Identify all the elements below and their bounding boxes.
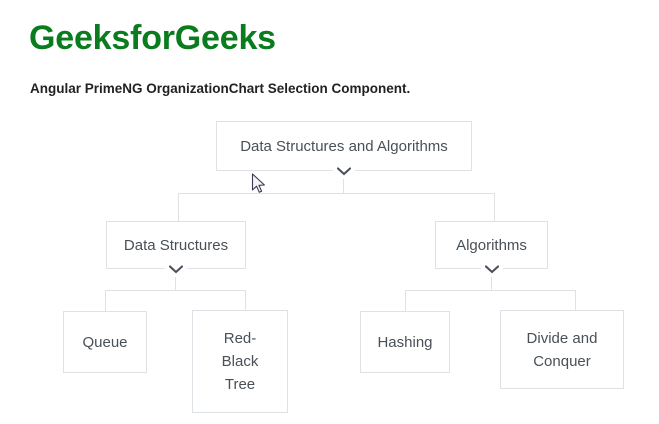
- page-root: GeeksforGeeks Angular PrimeNG Organizati…: [0, 0, 659, 424]
- org-node-label: Divide and Conquer: [519, 327, 605, 373]
- org-node-label: Algorithms: [446, 234, 537, 257]
- connector-down-data-structures: [178, 193, 179, 221]
- organization-chart: Data Structures and Algorithms Data Stru…: [0, 105, 659, 424]
- org-node-hashing[interactable]: Hashing: [360, 311, 450, 373]
- chevron-down-icon: [337, 167, 351, 176]
- chevron-down-icon: [169, 265, 183, 274]
- page-title: GeeksforGeeks: [29, 18, 276, 58]
- org-node-label: Data Structures: [117, 234, 235, 257]
- org-node-label: Red-Black Tree: [215, 327, 265, 396]
- connector-level3-right-bar: [405, 290, 575, 291]
- connector-down-red-black-tree: [245, 290, 246, 310]
- connector-down-algorithms: [494, 193, 495, 221]
- org-node-label: Data Structures and Algorithms: [227, 135, 461, 158]
- connector-down-queue: [105, 290, 106, 311]
- org-node-label: Hashing: [371, 331, 439, 354]
- page-subtitle: Angular PrimeNG OrganizationChart Select…: [30, 80, 410, 98]
- org-node-toggler-data-structures[interactable]: [165, 261, 187, 277]
- org-node-divide-and-conquer[interactable]: Divide and Conquer: [500, 310, 624, 389]
- connector-down-divide-and-conquer: [575, 290, 576, 310]
- org-node-label: Queue: [74, 331, 136, 354]
- org-node-toggler-data-structures-and-algorithms[interactable]: [333, 163, 355, 179]
- connector-level3-left-bar: [105, 290, 246, 291]
- org-node-red-black-tree[interactable]: Red-Black Tree: [192, 310, 288, 413]
- chevron-down-icon: [485, 265, 499, 274]
- connector-level2-bar: [178, 193, 495, 194]
- connector-down-hashing: [405, 290, 406, 311]
- org-node-toggler-algorithms[interactable]: [481, 261, 503, 277]
- org-node-queue[interactable]: Queue: [63, 311, 147, 373]
